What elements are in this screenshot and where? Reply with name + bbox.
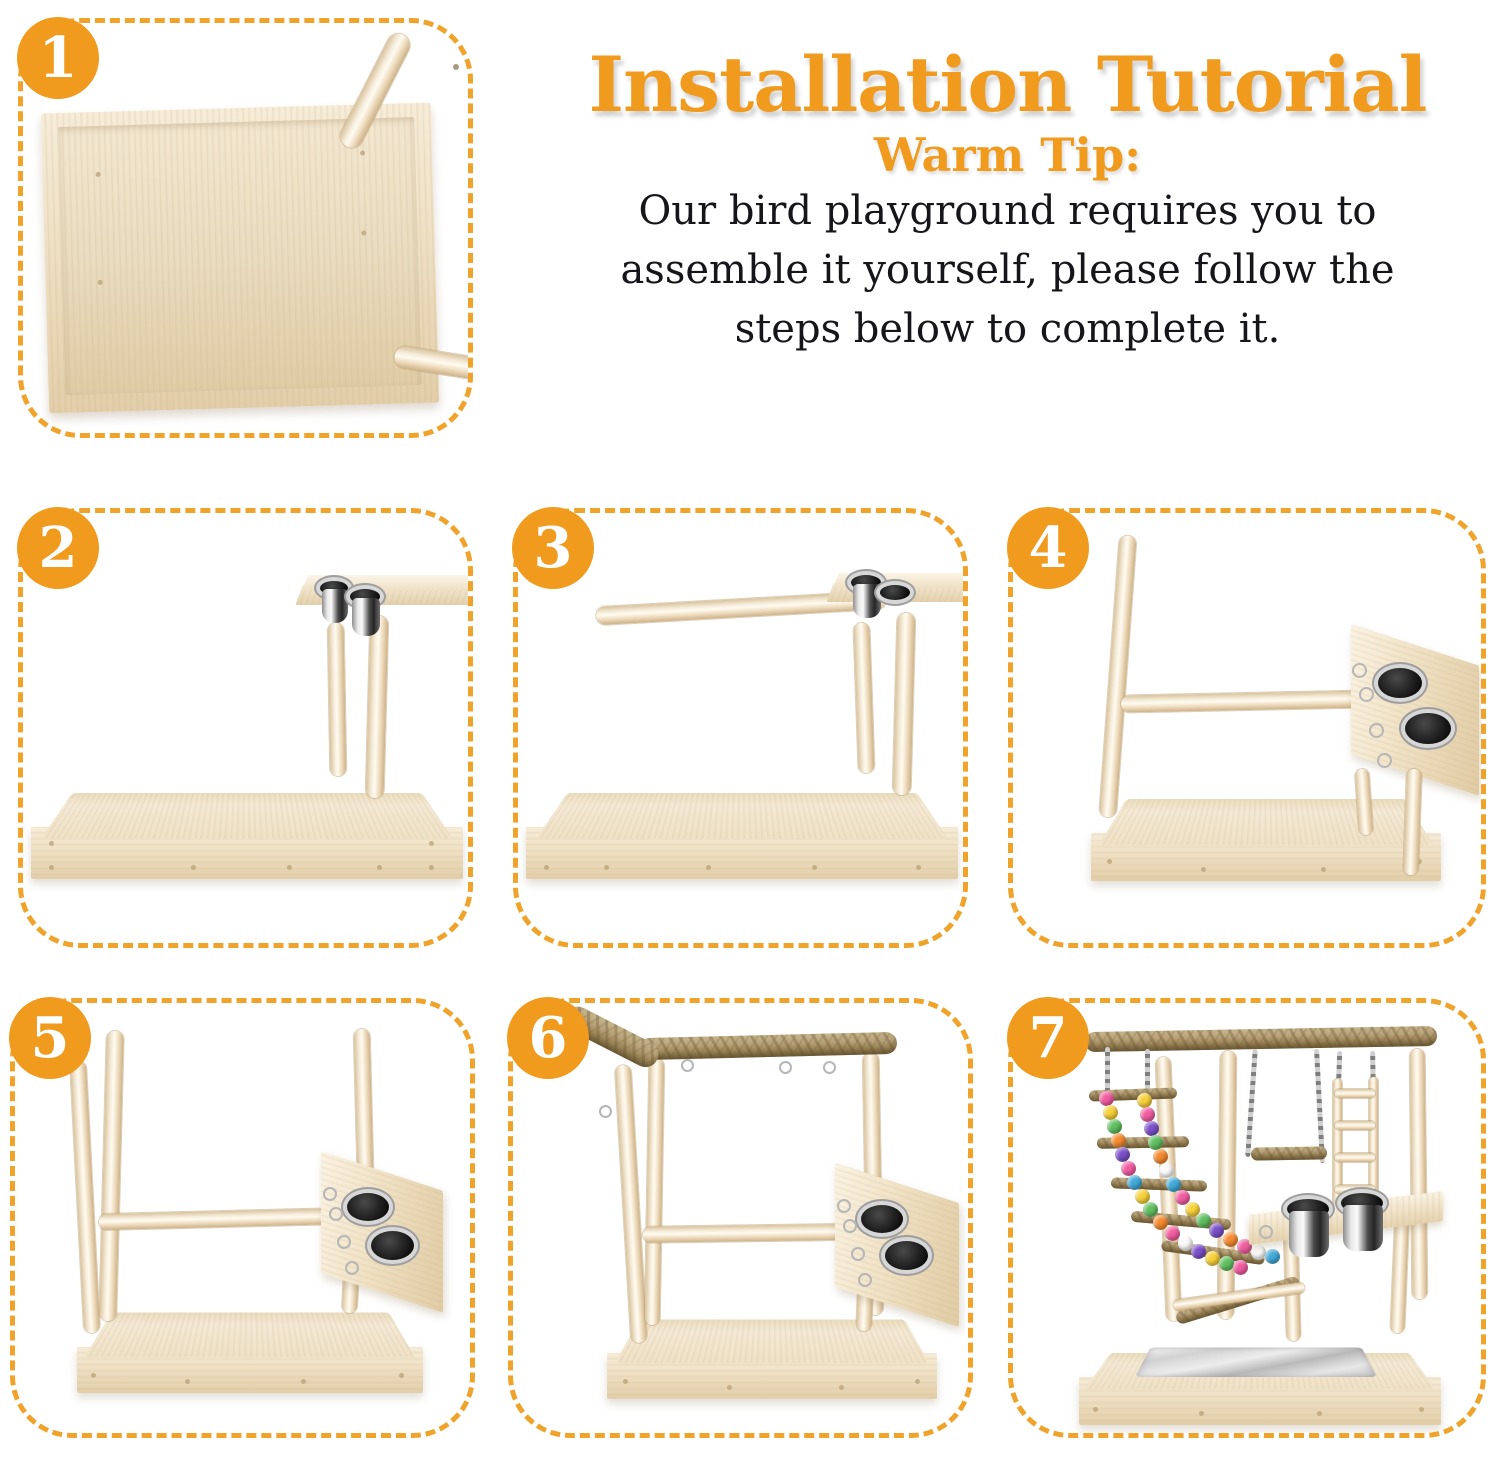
tip-line-1: Our bird playground requires you to [520, 184, 1495, 239]
step-panel-1: 1 [18, 18, 473, 438]
horizontal-perch-rod [1121, 690, 1369, 712]
bead-ladder-chain-left [1105, 1047, 1110, 1093]
steel-cup-lower [371, 1231, 414, 1260]
hook-ring-3 [1369, 723, 1384, 738]
ladder-rung-3 [1335, 1153, 1375, 1162]
step-4-illustration [1013, 513, 1481, 943]
hook-ring-4 [345, 1261, 359, 1275]
tray-inner-floor [58, 117, 421, 395]
hook-ring-1 [323, 1187, 337, 1201]
natural-bark-branch [1085, 1026, 1437, 1052]
tray-assembly [1079, 1311, 1441, 1433]
steel-cup-front-body [352, 598, 380, 636]
steel-cup-rear-body [853, 584, 881, 618]
steel-cup-upper [347, 1193, 389, 1221]
page-title: Installation Tutorial [520, 46, 1495, 124]
step-7-illustration [1013, 1003, 1481, 1433]
steel-cup-right-body [1343, 1205, 1383, 1251]
branch-hook-2 [779, 1061, 792, 1074]
step-panel-7: 7 [1008, 998, 1486, 1438]
step-badge-5: 5 [9, 997, 91, 1079]
ladder-rung-2 [1335, 1121, 1375, 1130]
header: Installation Tutorial Warm Tip: Our bird… [520, 46, 1495, 358]
step-badge-3: 3 [512, 507, 594, 589]
warm-tip-label: Warm Tip: [520, 130, 1495, 181]
horizontal-perch-rod [99, 1208, 347, 1230]
steel-cup-front [880, 585, 910, 600]
stainless-steel-tray-insert [1135, 1347, 1377, 1377]
steel-cup-lower [885, 1241, 928, 1270]
step-6-illustration [513, 1003, 968, 1433]
steel-cup-upper [1378, 668, 1422, 698]
hook-ring-1 [837, 1199, 851, 1213]
branch-hook-1 [681, 1059, 694, 1072]
bead-strand-right [1135, 1091, 1295, 1271]
hook-ring-3 [851, 1247, 865, 1261]
hook-ring-4 [858, 1273, 872, 1287]
step-badge-2: 2 [17, 507, 99, 589]
step-badge-7: 7 [1007, 997, 1089, 1079]
step-panel-3: 3 [513, 508, 968, 948]
hook-ring-3 [337, 1235, 351, 1249]
branch-hook-3 [823, 1061, 836, 1074]
hook-ring-4 [1377, 753, 1392, 768]
step-3-illustration [518, 513, 963, 943]
shelf-leg-front [328, 623, 347, 776]
natural-bark-branch [639, 1032, 897, 1060]
hook-ring-2 [843, 1219, 857, 1233]
hook-ring-1 [1352, 663, 1367, 678]
steel-cup-upper [861, 1205, 903, 1233]
step-panel-6: 6 [508, 998, 973, 1438]
steel-cup-rear-body [322, 589, 348, 623]
step-panel-2: 2 [18, 508, 473, 948]
step-badge-4: 4 [1007, 507, 1089, 589]
tip-line-3: steps below to complete it. [520, 302, 1495, 357]
bead-ladder-chain-right [1145, 1049, 1150, 1093]
tray-assembly [31, 741, 463, 911]
steel-cup-lower [1405, 713, 1451, 744]
step-badge-1: 1 [17, 17, 99, 99]
step-1-illustration [23, 23, 468, 433]
shelf-hook-ring [1259, 1225, 1273, 1239]
step-panel-4: 4 [1008, 508, 1486, 948]
branch-arm-hook [599, 1105, 612, 1118]
step-panel-5: 5 [10, 998, 475, 1438]
tip-line-2: assemble it yourself, please follow the [520, 243, 1495, 298]
hook-ring-2 [1359, 687, 1374, 702]
step-5-illustration [15, 1003, 470, 1433]
hook-ring-2 [329, 1207, 343, 1221]
post-right-rear [1410, 1049, 1428, 1299]
ladder-rung-1 [1335, 1089, 1375, 1098]
step-2-illustration [23, 513, 468, 943]
post-left-front [70, 1061, 100, 1333]
steel-cup-left-body [1289, 1211, 1329, 1257]
step-badge-6: 6 [507, 997, 589, 1079]
